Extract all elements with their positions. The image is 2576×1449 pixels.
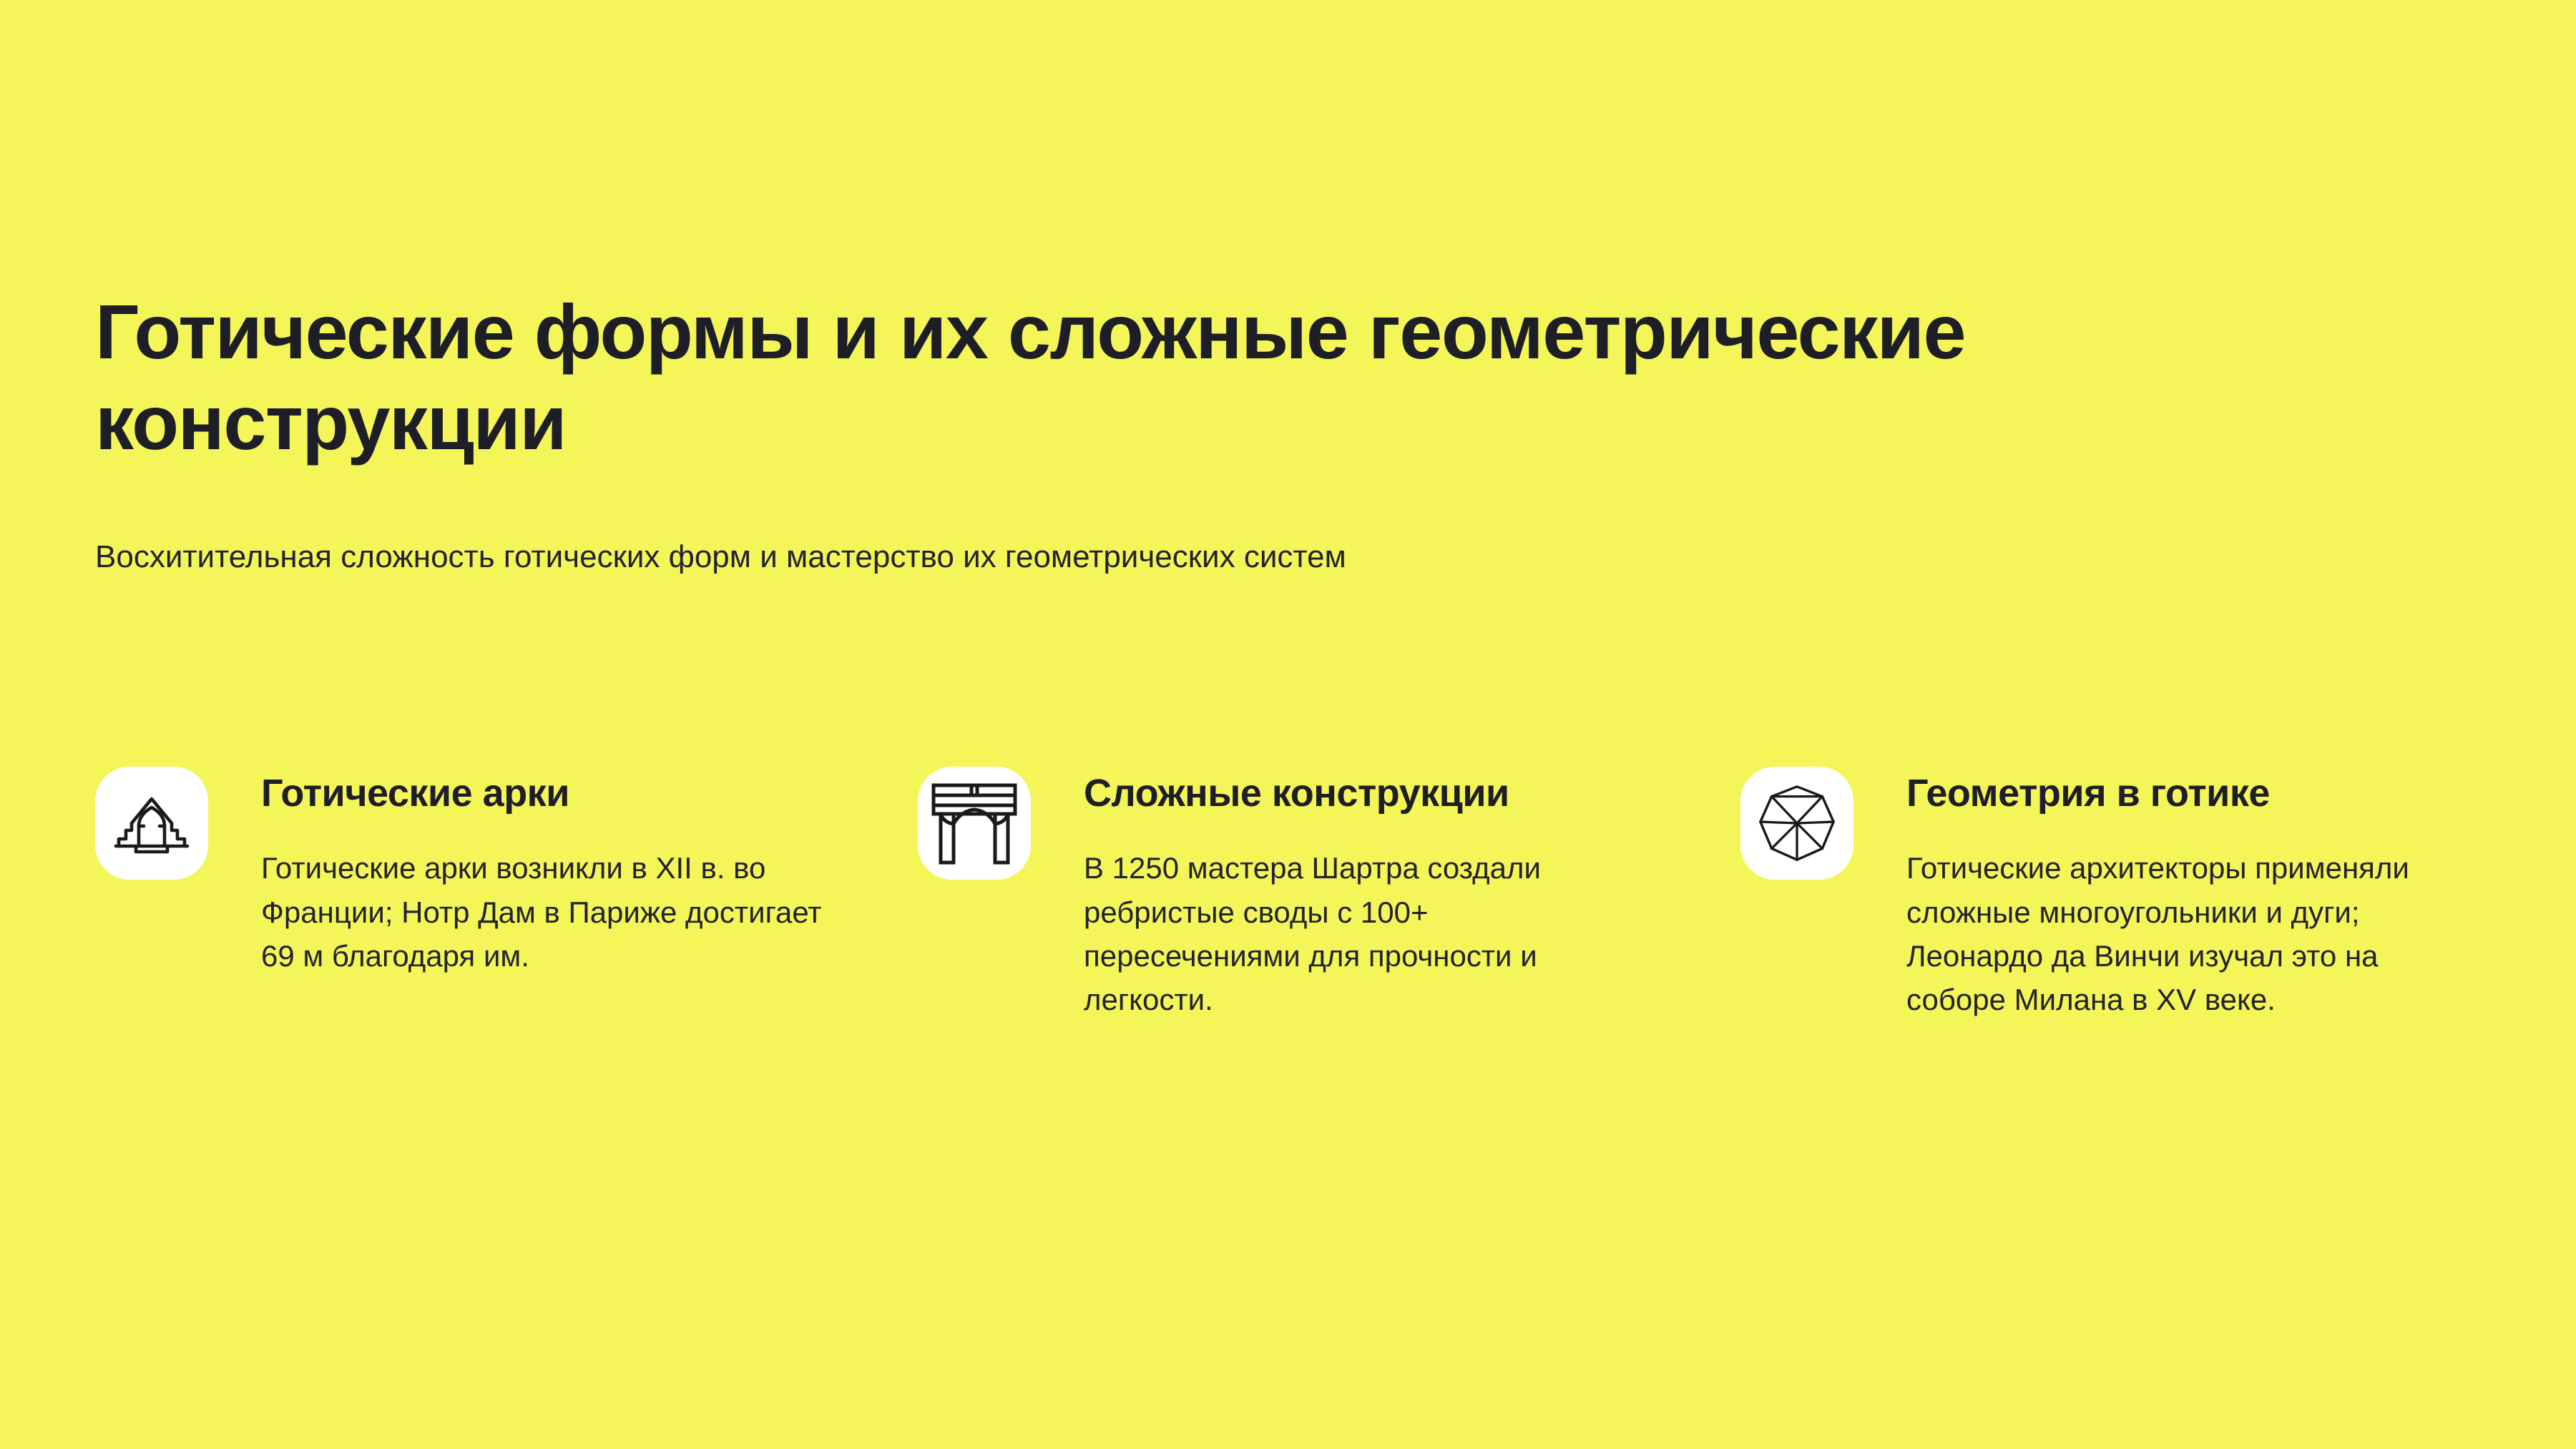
feature-card: Геометрия в готике Готические архитектор… <box>1740 765 2484 1022</box>
feature-card-body: Сложные конструкции В 1250 мастера Шартр… <box>1031 765 1740 1022</box>
feature-card-text: В 1250 мастера Шартра создали ребристые … <box>1084 846 1649 1021</box>
arch-gateway-icon <box>929 778 1019 868</box>
feature-card: Сложные конструкции В 1250 мастера Шартр… <box>918 765 1740 1022</box>
feature-card: Готические арки Готические арки возникли… <box>95 765 918 1022</box>
icon-tile <box>918 767 1031 880</box>
icon-tile <box>1740 767 1853 880</box>
feature-cards-row: Готические арки Готические арки возникли… <box>95 765 2484 1022</box>
slide: Готические формы и их сложные геометриче… <box>0 0 2576 1449</box>
feature-card-title: Готические арки <box>261 772 918 815</box>
feature-card-text: Готические арки возникли в XII в. во Фра… <box>261 846 826 978</box>
feature-card-title: Геометрия в готике <box>1906 772 2484 815</box>
gothic-cathedral-facade-icon <box>112 783 192 863</box>
polygon-wireframe-icon <box>1755 781 1839 865</box>
icon-tile <box>95 767 208 880</box>
page-title: Готические формы и их сложные геометриче… <box>95 286 2041 468</box>
feature-card-text: Готические архитекторы применяли сложные… <box>1906 846 2484 1021</box>
feature-card-body: Готические арки Готические арки возникли… <box>208 765 918 978</box>
feature-card-body: Геометрия в готике Готические архитектор… <box>1853 765 2484 1022</box>
feature-card-title: Сложные конструкции <box>1084 772 1740 815</box>
page-subtitle: Восхитительная сложность готических форм… <box>95 535 1346 579</box>
header: Готические формы и их сложные геометриче… <box>95 286 2098 468</box>
